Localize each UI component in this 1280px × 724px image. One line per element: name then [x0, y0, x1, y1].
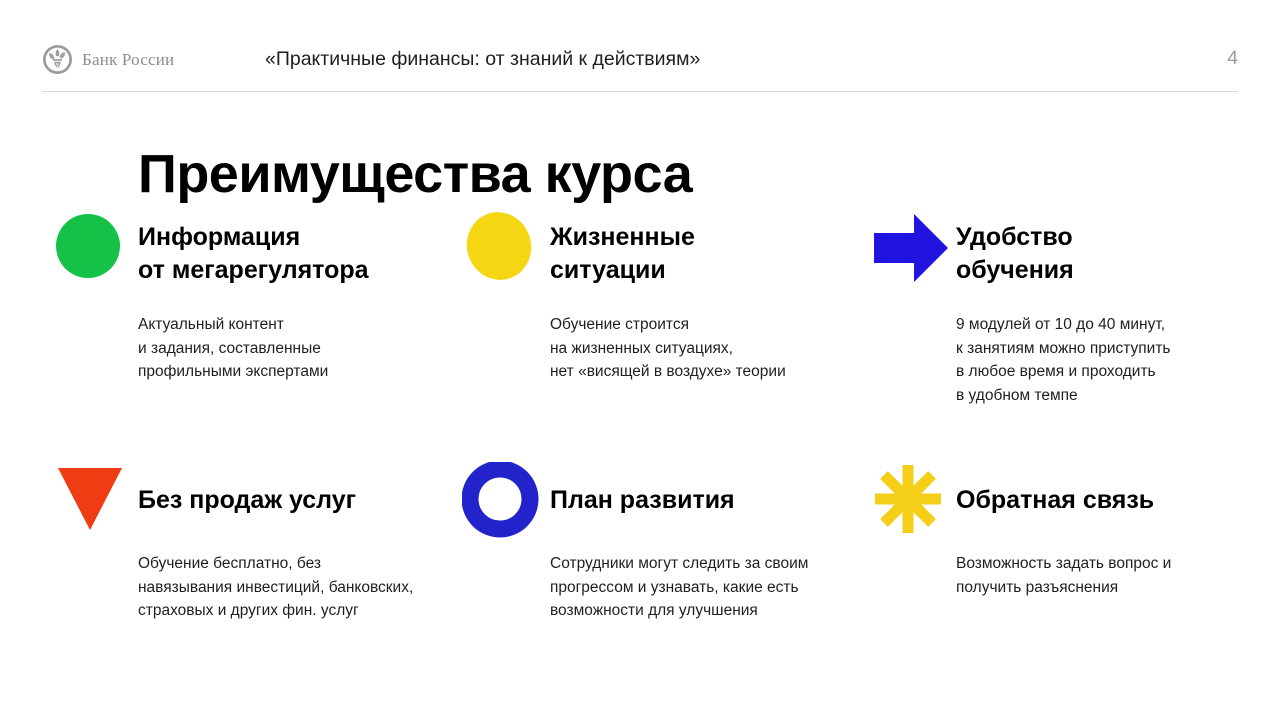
bank-of-russia-emblem-icon — [42, 44, 73, 75]
slide: Банк России «Практичные финансы: от знан… — [0, 0, 1280, 720]
page-number: 4 — [1227, 48, 1238, 71]
card-body: Сотрудники могут следить за своим прогре… — [550, 552, 862, 623]
benefit-card-feedback: Обратная связь Возможность задать вопрос… — [868, 462, 1238, 599]
card-head: План развития — [462, 462, 862, 538]
benefits-row-top: Информация от мегарегулятора Актуальный … — [0, 200, 1280, 462]
benefits-row-bottom: Без продаж услуг Обучение бесплатно, без… — [0, 462, 1280, 724]
yellow-asterisk-icon — [868, 462, 956, 538]
card-head: Удобство обучения — [868, 200, 1238, 292]
header-title: «Практичные финансы: от знаний к действи… — [265, 48, 700, 71]
header-divider — [42, 91, 1238, 92]
benefit-card-development-plan: План развития Сотрудники могут следить з… — [462, 462, 862, 623]
benefit-card-convenience: Удобство обучения 9 модулей от 10 до 40 … — [868, 200, 1238, 407]
page-title: Преимущества курса — [138, 144, 692, 204]
card-title: Удобство обучения — [956, 200, 1074, 286]
card-body: Актуальный контент и задания, составленн… — [138, 313, 460, 384]
card-head: Обратная связь — [868, 462, 1238, 538]
slide-header: Банк России «Практичные финансы: от знан… — [0, 0, 1280, 92]
benefit-card-life-situations: Жизненные ситуации Обучение строится на … — [462, 200, 862, 384]
red-triangle-down-icon — [50, 462, 138, 538]
brand-name: Банк России — [82, 51, 174, 68]
card-title: План развития — [550, 484, 735, 517]
card-body: Возможность задать вопрос и получить раз… — [956, 552, 1238, 599]
card-body: Обучение бесплатно, без навязывания инве… — [138, 552, 460, 623]
card-title: Обратная связь — [956, 484, 1154, 517]
card-title: Информация от мегарегулятора — [138, 200, 369, 286]
card-body: 9 модулей от 10 до 40 минут, к занятиям … — [956, 313, 1238, 407]
green-circle-icon — [50, 200, 138, 292]
card-head: Без продаж услуг — [50, 462, 460, 538]
blue-arrow-right-icon — [868, 200, 956, 292]
card-title: Без продаж услуг — [138, 484, 356, 517]
benefit-card-information: Информация от мегарегулятора Актуальный … — [50, 200, 460, 384]
card-head: Информация от мегарегулятора — [50, 200, 460, 292]
card-title: Жизненные ситуации — [550, 200, 695, 286]
card-head: Жизненные ситуации — [462, 200, 862, 292]
benefit-card-no-sales: Без продаж услуг Обучение бесплатно, без… — [50, 462, 460, 623]
yellow-blob-icon — [462, 200, 550, 292]
card-body: Обучение строится на жизненных ситуациях… — [550, 313, 862, 384]
blue-ring-icon — [462, 462, 550, 538]
brand: Банк России — [42, 44, 174, 75]
benefits-grid: Информация от мегарегулятора Актуальный … — [0, 200, 1280, 724]
